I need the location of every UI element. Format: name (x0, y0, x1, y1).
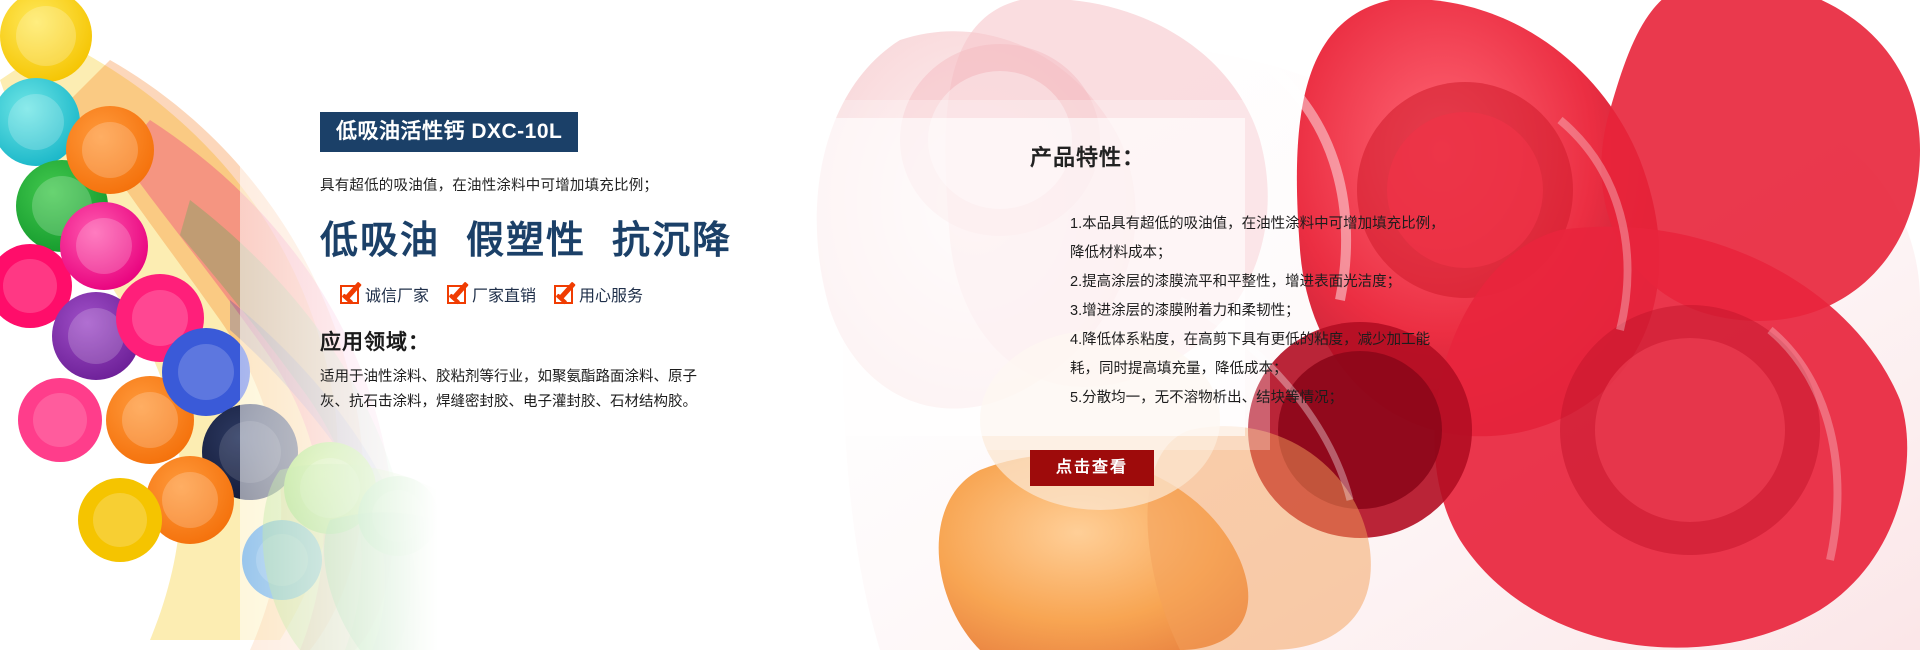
trust-badges-row: 诚信厂家 厂家直销 用心服务 (320, 282, 740, 306)
banner-stage: 低吸油活性钙 DXC-10L 具有超低的吸油值，在油性涂料中可增加填充比例； 低… (0, 0, 1920, 650)
keyword-2: 假塑性 (466, 220, 586, 262)
application-body: 适用于油性涂料、胶粘剂等行业，如聚氨酯路面涂料、原子灰、抗石击涂料，焊缝密封胶、… (320, 365, 720, 416)
keyword-3: 抗沉降 (612, 220, 732, 262)
checkbox-checked-icon (340, 285, 359, 304)
feature-item: 1.本品具有超低的吸油值，在油性涂料中可增加填充比例，降低材料成本； (1070, 210, 1455, 268)
features-title: 产品特性： (1030, 140, 1450, 172)
product-subtitle: 具有超低的吸油值，在油性涂料中可增加填充比例； (320, 174, 740, 195)
product-features-content: 产品特性： 1.本品具有超低的吸油值，在油性涂料中可增加填充比例，降低材料成本；… (1030, 140, 1450, 486)
left-content-column: 低吸油活性钙 DXC-10L 具有超低的吸油值，在油性涂料中可增加填充比例； 低… (320, 112, 740, 416)
trust-badge-label-2: 厂家直销 (472, 282, 536, 306)
features-list: 1.本品具有超低的吸油值，在油性涂料中可增加填充比例，降低材料成本； 2.提高涂… (1030, 210, 1455, 413)
trust-badge-1: 诚信厂家 (340, 282, 429, 306)
product-title-badge: 低吸油活性钙 DXC-10L (320, 112, 578, 152)
trust-badge-label-3: 用心服务 (579, 282, 643, 306)
view-details-button[interactable]: 点击查看 (1030, 450, 1154, 486)
feature-item: 2.提高涂层的漆膜流平和平整性，增进表面光洁度； (1070, 268, 1455, 297)
feature-item: 4.降低体系粘度，在高剪下具有更低的粘度，减少加工能耗，同时提高填充量，降低成本… (1070, 326, 1455, 384)
feature-item: 3.增进涂层的漆膜附着力和柔韧性； (1070, 297, 1455, 326)
checkbox-checked-icon (554, 285, 573, 304)
feature-item: 5.分散均一，无不溶物析出、结块等情况； (1070, 384, 1455, 413)
application-heading: 应用领域： (320, 326, 740, 356)
keyword-1: 低吸油 (320, 220, 440, 262)
checkbox-checked-icon (447, 285, 466, 304)
product-keywords: 低吸油假塑性抗沉降 (320, 209, 740, 264)
trust-badge-3: 用心服务 (554, 282, 643, 306)
trust-badge-label-1: 诚信厂家 (365, 282, 429, 306)
trust-badge-2: 厂家直销 (447, 282, 536, 306)
